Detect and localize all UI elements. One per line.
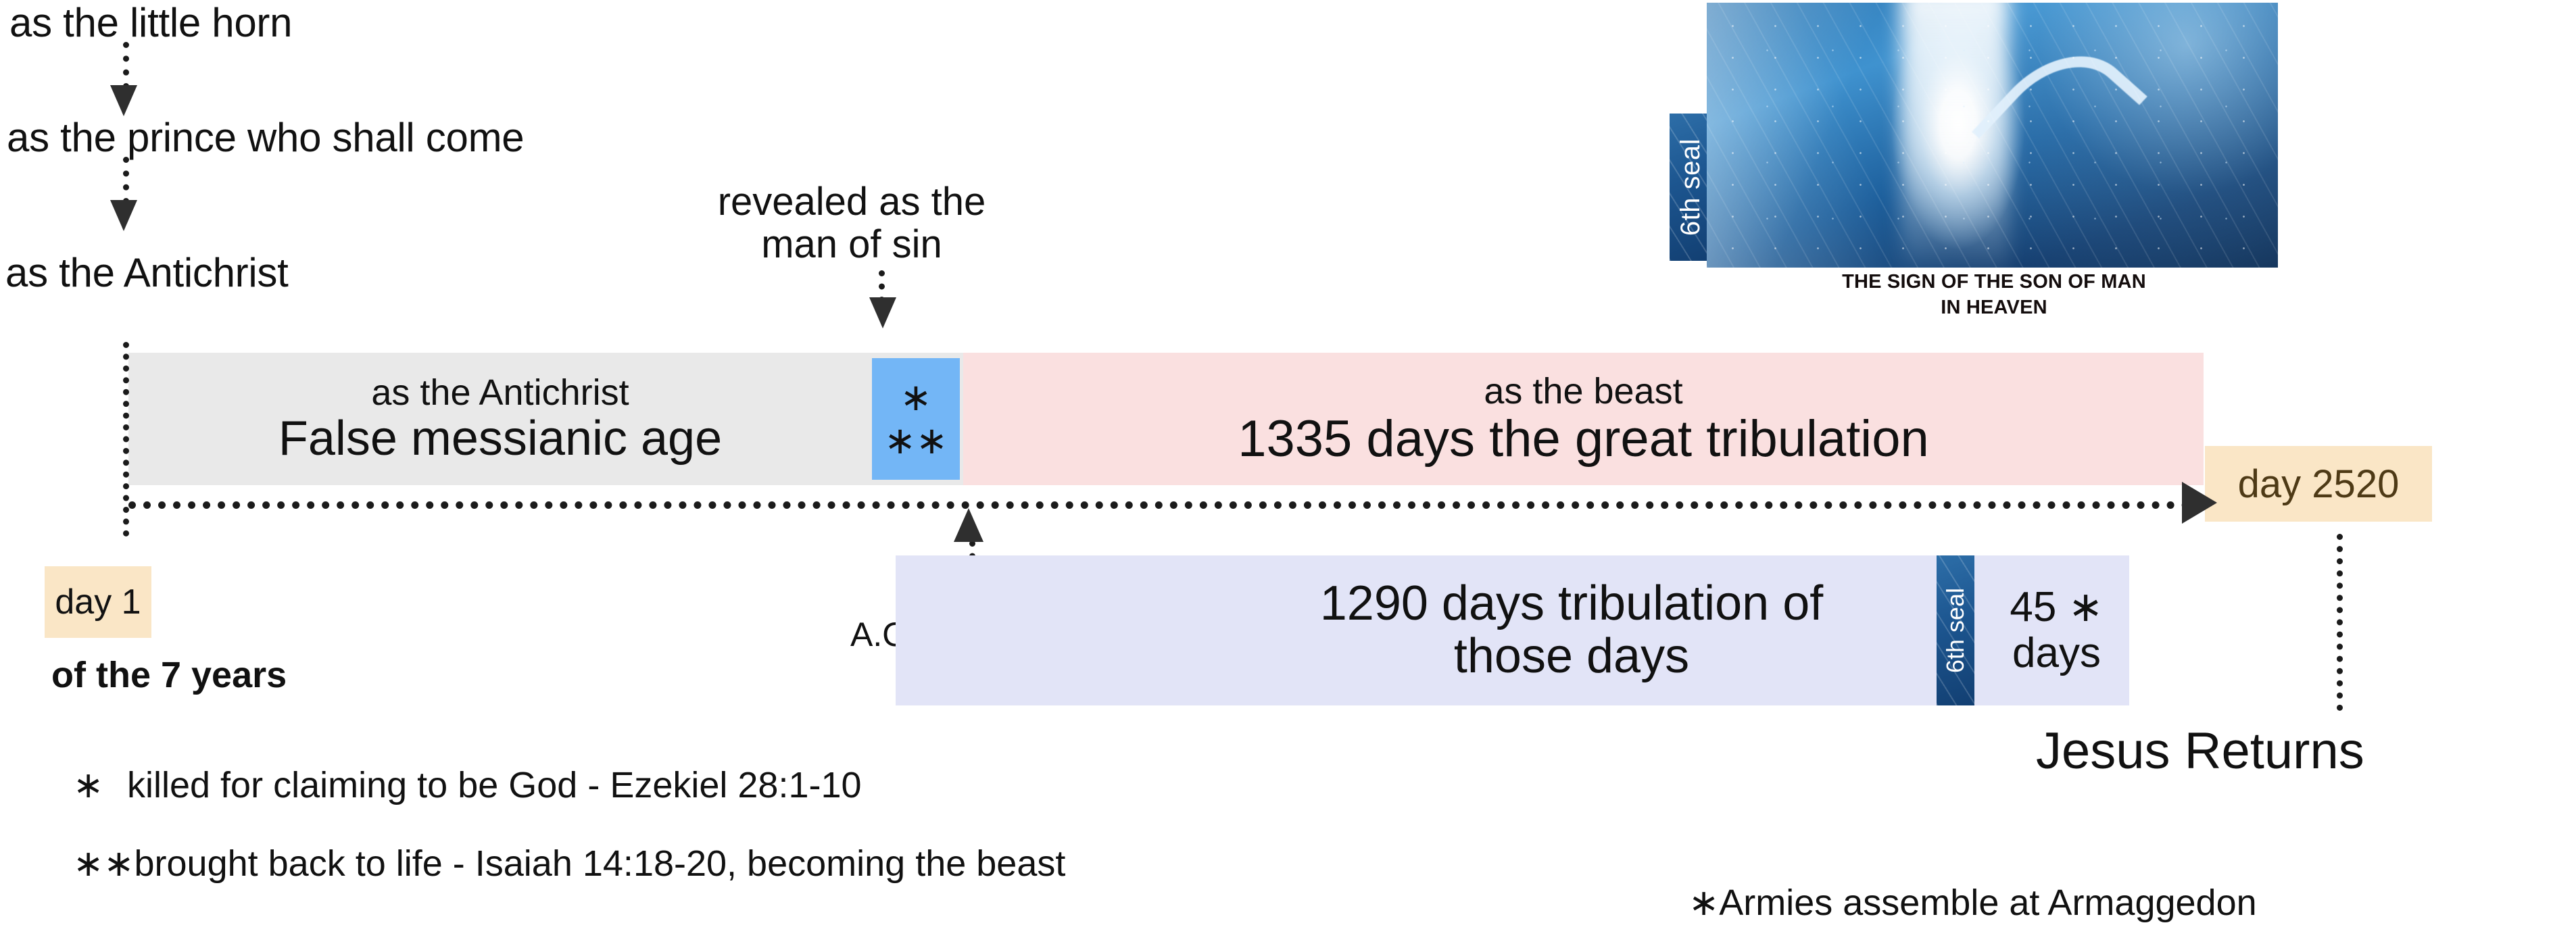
gray-segment-labels: as the Antichrist False messianic age: [128, 353, 872, 485]
cascade-label-little-horn: as the little horn: [9, 1, 292, 44]
timeline-segment-45-days: 45 ∗ days: [1984, 555, 2129, 705]
cascade-arrow-down-icon-2: [110, 200, 137, 231]
footnote-double-asterisk: ∗∗brought back to life - Isaiah 14:18-20…: [73, 842, 1065, 885]
aod-arrow-up-icon: [954, 508, 983, 542]
note-armies-assemble-armageddon: ∗Armies assemble at Armaggedon: [1688, 881, 2257, 924]
light-streaks-decoration: [1707, 3, 2278, 268]
revealed-callout-line-2: man of sin: [676, 224, 1027, 266]
timeline-segment-1290-days[interactable]: 1290 days tribulation of those days 6th …: [896, 555, 2129, 705]
marker-line-jesus-returns: [2337, 534, 2343, 711]
badge-day-1-label: day 1: [55, 582, 141, 622]
label-of-the-7-years: of the 7 years: [51, 654, 287, 696]
timeline-axis-arrow-right-icon: [2182, 482, 2217, 524]
sixth-seal-tab-label-bottom: 6th seal: [1937, 555, 1974, 705]
gray-segment-sub-label: as the Antichrist: [371, 374, 629, 412]
cascade-arrow-down-icon-1: [110, 85, 137, 116]
sixth-seal-vertical-tab-bottom: 6th seal: [1937, 555, 1974, 705]
marker-line-day-1: [123, 342, 129, 537]
timeline-segment-false-messianic-age[interactable]: as the Antichrist False messianic age: [128, 353, 973, 485]
revealed-callout-line-1: revealed as the: [676, 181, 1027, 224]
badge-day-1[interactable]: day 1: [45, 566, 151, 638]
pink-segment-sub-label: as the beast: [1484, 372, 1682, 410]
final-segment-line-2: days: [2012, 630, 2101, 676]
sign-of-son-of-man-caption: THE SIGN OF THE SON OF MAN IN HEAVEN: [1757, 269, 2231, 321]
lavender-segment-line-1: 1290 days tribulation of: [1320, 578, 1824, 630]
badge-day-2520[interactable]: day 2520: [2205, 446, 2432, 522]
revealed-callout-arrow-down-icon: [869, 297, 896, 328]
badge-day-2520-label: day 2520: [2238, 462, 2400, 507]
pink-segment-main-label: 1335 days the great tribulation: [1238, 412, 1928, 466]
sixth-seal-vertical-tab-top: 6th seal: [1670, 114, 1712, 261]
cascade-dotted-connector-1: [123, 42, 129, 89]
sixth-seal-tab-label-top: 6th seal: [1670, 114, 1712, 261]
caption-line-2: IN HEAVEN: [1757, 295, 2231, 320]
footnote-1-mark: ∗: [73, 764, 127, 806]
footnote-single-asterisk: ∗killed for claiming to be God - Ezekiel…: [73, 764, 862, 806]
lavender-segment-labels: 1290 days tribulation of those days: [1166, 555, 1977, 705]
caption-line-1: THE SIGN OF THE SON OF MAN: [1757, 269, 2231, 295]
lavender-segment-line-2: those days: [1454, 630, 1689, 683]
cascade-dotted-connector-2: [123, 157, 129, 204]
timeline-segment-death-and-resurrection[interactable]: ∗ ∗∗: [872, 358, 960, 480]
revealed-as-man-of-sin-callout: revealed as the man of sin: [676, 181, 1027, 266]
asterisk-single-marker: ∗: [900, 378, 932, 416]
footnote-2-text: brought back to life - Isaiah 14:18-20, …: [135, 843, 1066, 884]
asterisk-double-marker: ∗∗: [884, 422, 948, 459]
label-jesus-returns: Jesus Returns: [2036, 722, 2364, 780]
timeline-segment-great-tribulation[interactable]: as the beast 1335 days the great tribula…: [963, 353, 2204, 485]
sign-of-son-of-man-artwork: [1707, 3, 2278, 268]
footnote-2-mark: ∗∗: [73, 842, 135, 885]
footnote-1-text: killed for claiming to be God - Ezekiel …: [127, 765, 862, 805]
final-segment-line-1: 45 ∗: [2010, 584, 2103, 630]
gray-segment-main-label: False messianic age: [278, 414, 722, 464]
cascade-label-antichrist: as the Antichrist: [5, 251, 288, 294]
sign-of-son-of-man-image: [1707, 3, 2278, 268]
timeline-dotted-axis: [128, 501, 2190, 509]
cascade-label-prince: as the prince who shall come: [7, 116, 524, 159]
